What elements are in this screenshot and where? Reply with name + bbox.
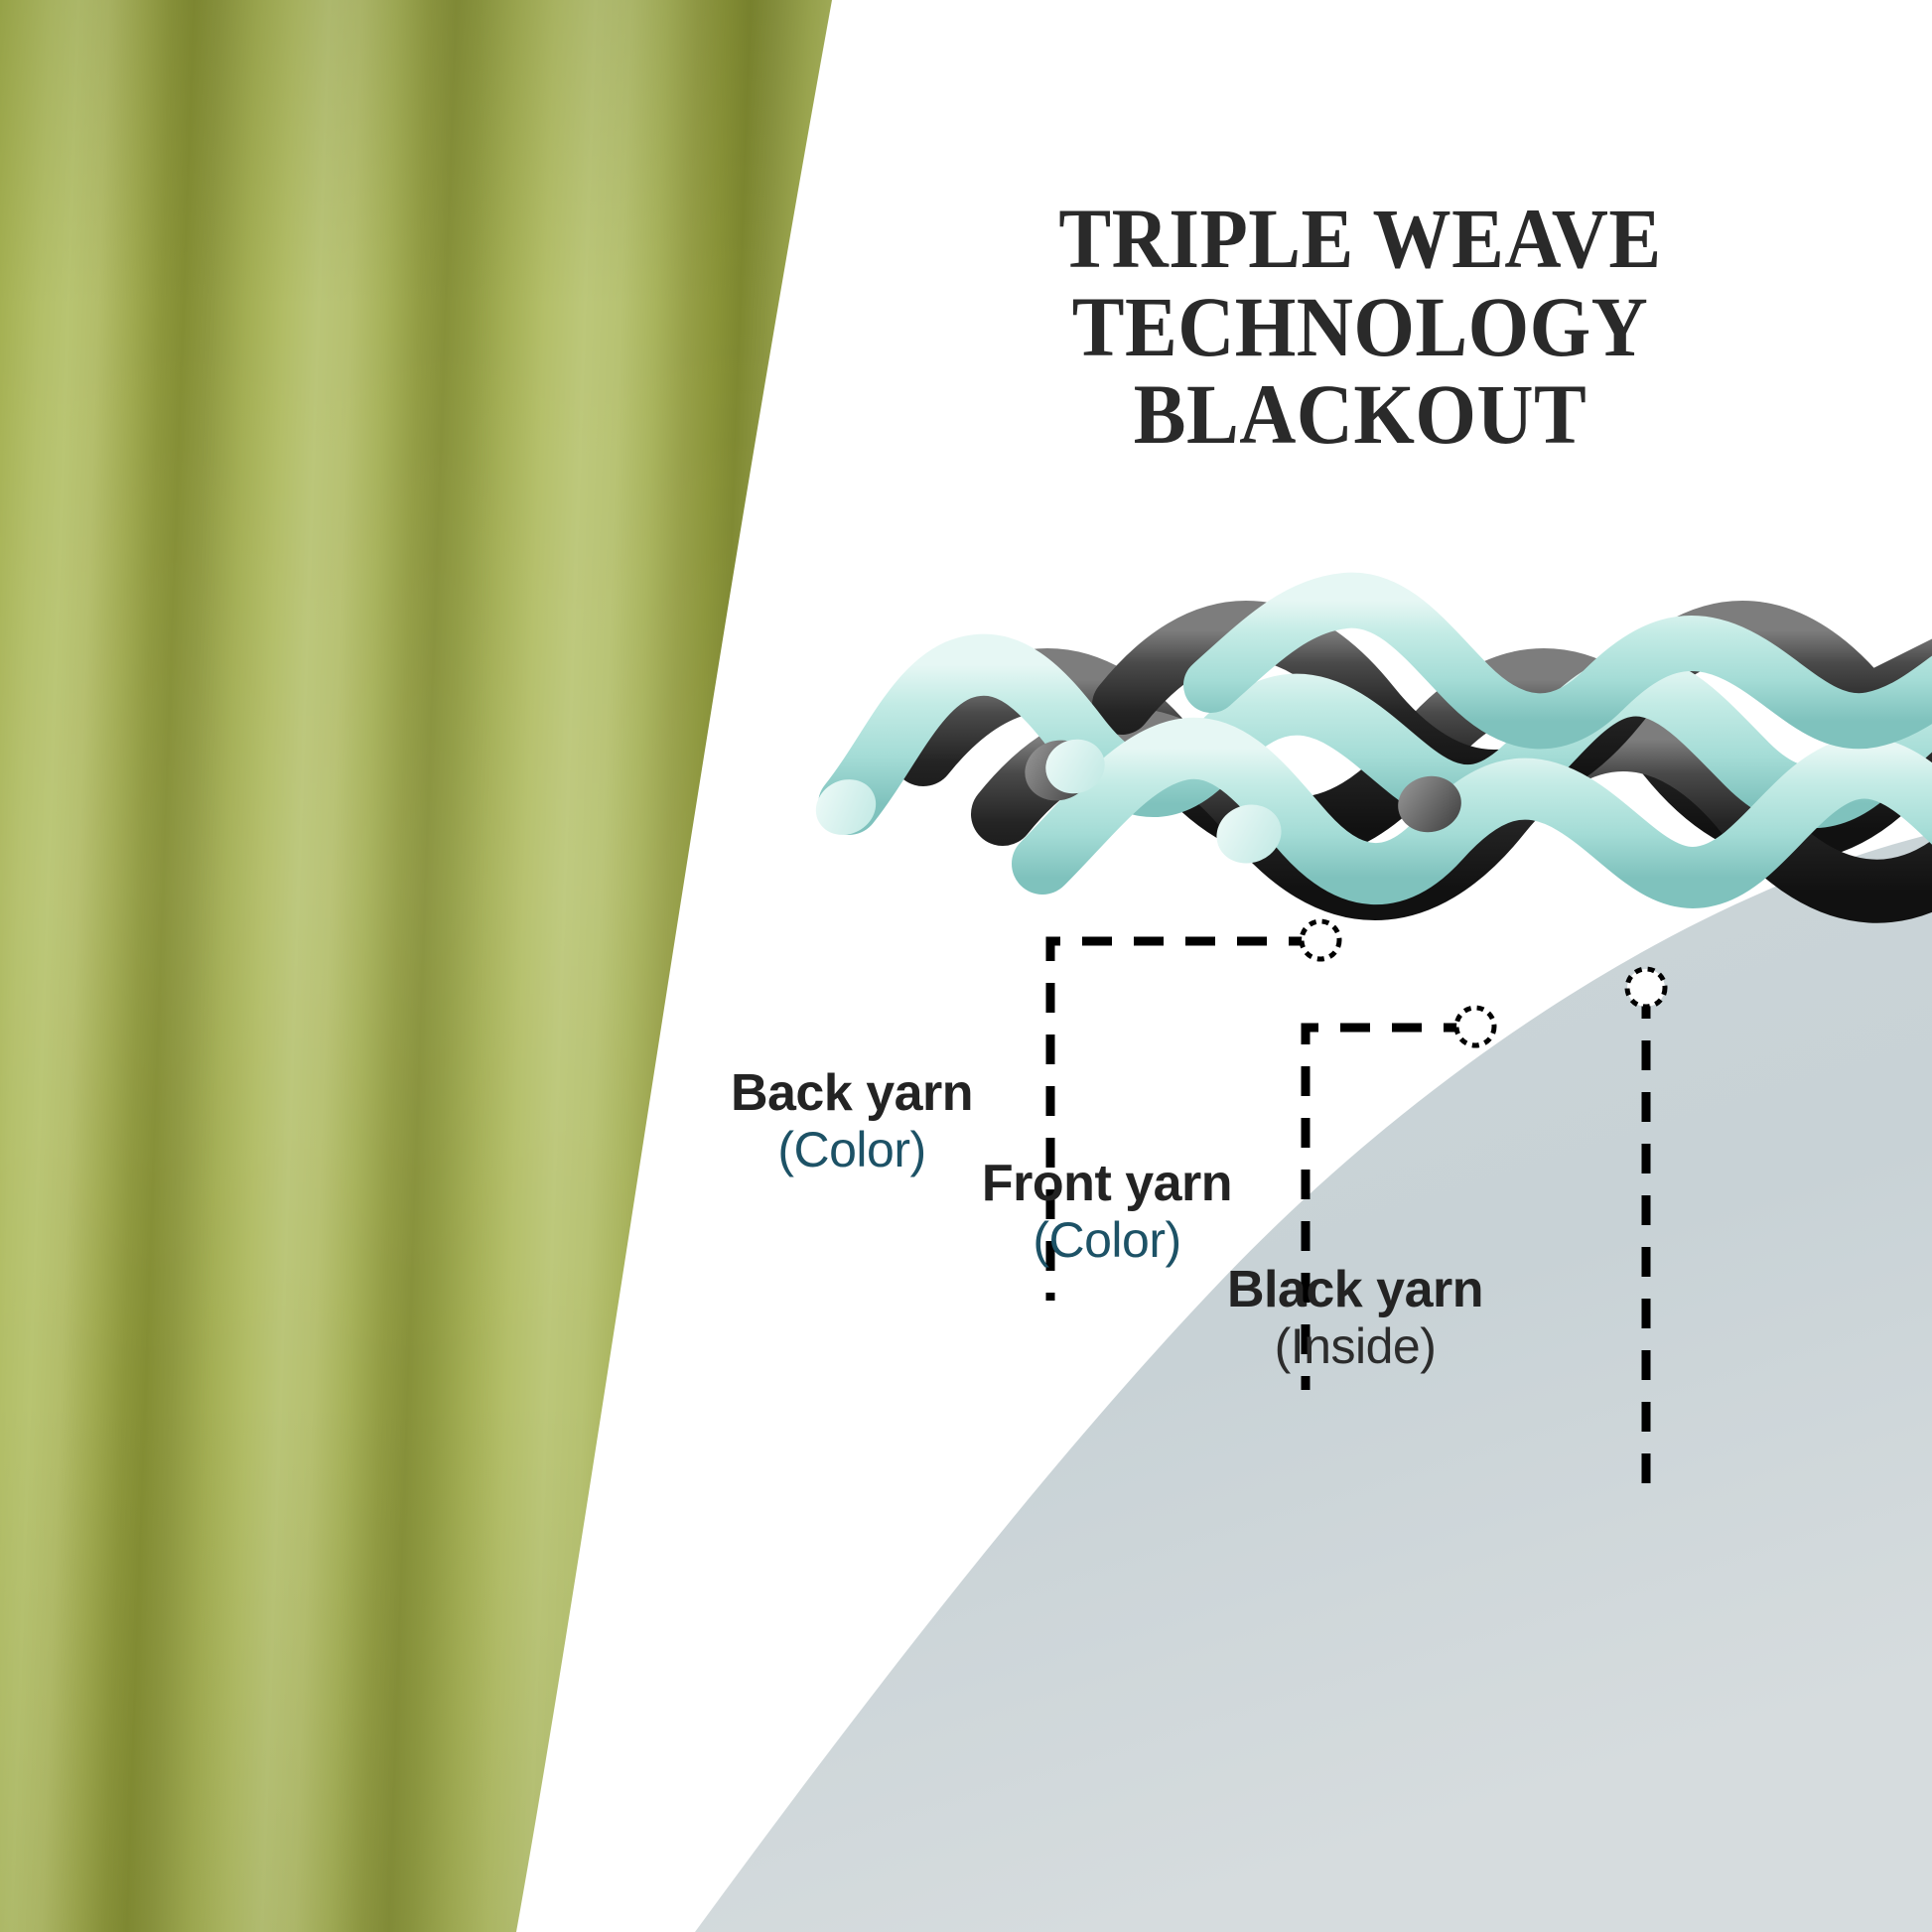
title-line-3: BLACKOUT	[876, 370, 1844, 459]
callout-black-yarn: Black yarn (Inside)	[1226, 1261, 1484, 1374]
marker-dot-black-yarn	[1627, 969, 1665, 1007]
marker-dot-back-yarn	[1302, 921, 1339, 959]
infographic-canvas: TRIPLE WEAVE TECHNOLOGY BLACKOUT	[0, 0, 1932, 1932]
marker-dot-front-yarn	[1456, 1008, 1494, 1045]
curtain-edge-mask	[0, 0, 894, 1932]
callout-back-yarn-subtitle: (Color)	[723, 1122, 981, 1177]
callout-front-yarn: Front yarn (Color)	[978, 1155, 1236, 1268]
leader-black-yarn	[1627, 969, 1665, 1497]
callout-black-yarn-title: Black yarn	[1226, 1261, 1484, 1318]
title-line-1: TRIPLE WEAVE	[876, 195, 1844, 283]
title-line-2: TECHNOLOGY	[876, 283, 1844, 371]
curtain-product-photo	[0, 0, 894, 1932]
page-title: TRIPLE WEAVE TECHNOLOGY BLACKOUT	[876, 195, 1844, 459]
callout-front-yarn-title: Front yarn	[978, 1155, 1236, 1212]
yarn-weave-illustration	[794, 506, 1932, 923]
callout-back-yarn-title: Back yarn	[723, 1064, 981, 1122]
callout-front-yarn-subtitle: (Color)	[978, 1212, 1236, 1268]
callout-black-yarn-subtitle: (Inside)	[1226, 1318, 1484, 1374]
callout-back-yarn: Back yarn (Color)	[723, 1064, 981, 1177]
